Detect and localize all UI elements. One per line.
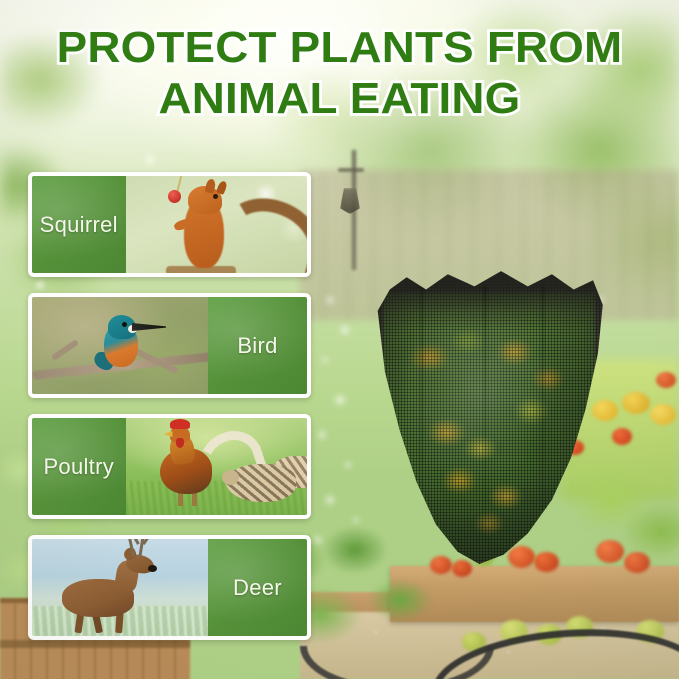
card-label-panel: Deer (208, 539, 307, 636)
card-label-panel: Bird (208, 297, 307, 394)
rooster-wattle (176, 438, 184, 448)
rooster-beak (164, 431, 173, 437)
twig (51, 339, 79, 361)
squirrel-eye (213, 194, 218, 199)
product-marketing-poster: PROTECT PLANTS FROM ANIMAL EATING Squirr… (0, 0, 679, 679)
cherry-icon (168, 190, 181, 203)
tomato-yellow (622, 392, 650, 414)
deer-photo (32, 539, 208, 636)
mesh-fold (484, 286, 486, 542)
deer-nose (148, 565, 157, 572)
card-label-panel: Squirrel (32, 176, 126, 273)
deer-antler (142, 539, 150, 545)
mesh-top-rim (368, 262, 610, 329)
mesh-netting-bag (368, 262, 610, 567)
card-label-text: Deer (233, 575, 282, 601)
squirrel-photo (126, 176, 308, 273)
tomato-red (612, 428, 632, 445)
animal-card-deer[interactable]: Deer (28, 535, 311, 640)
card-label-text: Poultry (43, 454, 114, 480)
card-label-panel: Poultry (32, 418, 126, 515)
kingfisher-eye (122, 322, 127, 327)
hen-head (222, 470, 239, 485)
poultry-photo (126, 418, 308, 515)
tomato-red (656, 372, 676, 388)
bird-photo (32, 297, 208, 394)
deer-antler (131, 539, 139, 545)
plant-cover-product (368, 262, 610, 567)
kingfisher-beak (132, 323, 166, 331)
animal-card-list: Squirrel Bird (28, 172, 311, 656)
tomato-yellow (650, 404, 676, 425)
animal-card-squirrel[interactable]: Squirrel (28, 172, 311, 277)
animal-card-poultry[interactable]: Poultry (28, 414, 311, 519)
card-label-text: Squirrel (40, 212, 118, 238)
rooster-comb (170, 419, 190, 429)
card-label-text: Bird (237, 333, 277, 359)
mesh-fold (542, 286, 544, 542)
squirrel-ear (215, 180, 227, 195)
animal-card-bird[interactable]: Bird (28, 293, 311, 398)
mesh-fold (421, 286, 423, 542)
tomato-red (624, 552, 650, 573)
